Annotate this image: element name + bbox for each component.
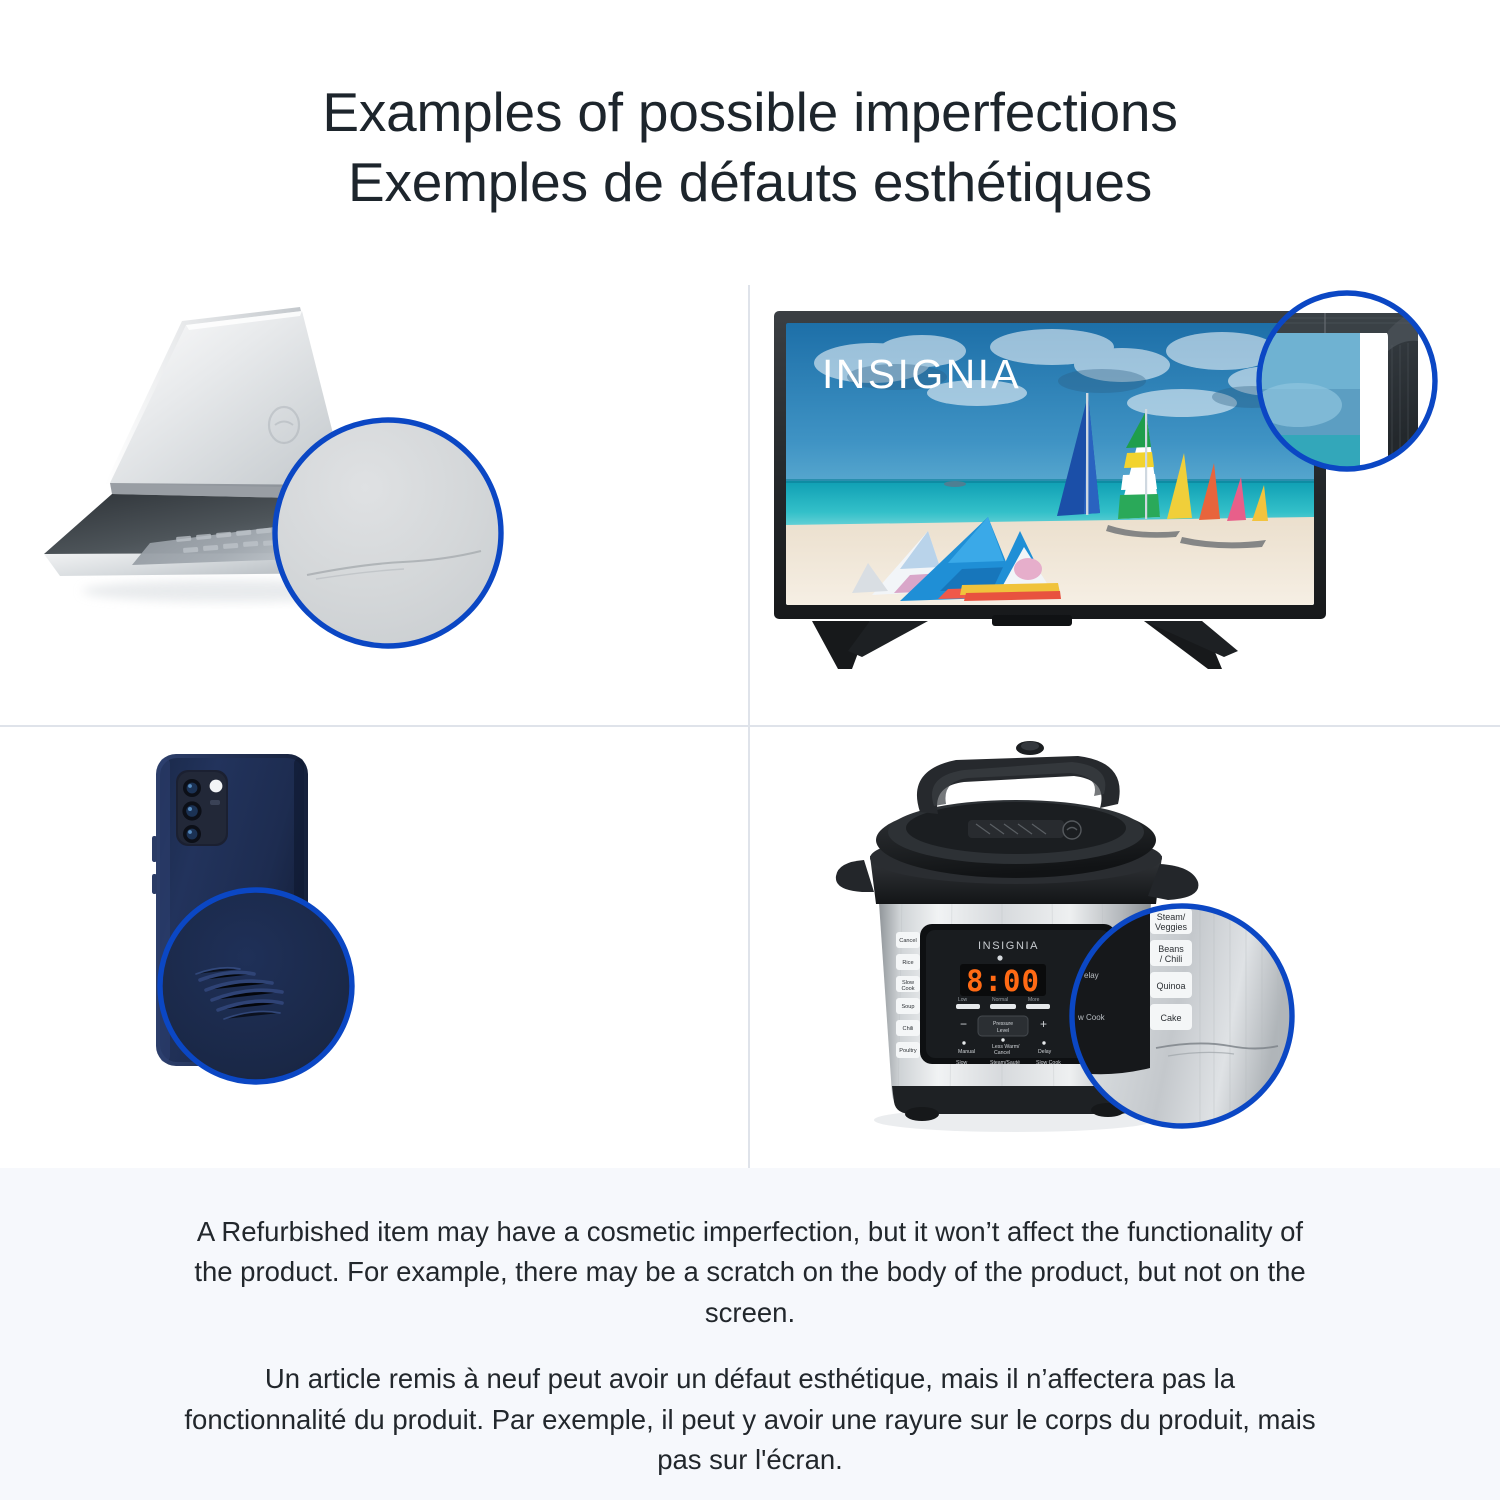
svg-text:Cake: Cake <box>1160 1013 1181 1023</box>
svg-text:Beans: Beans <box>1158 944 1184 954</box>
page-title-french: Exemples de défauts esthétiques <box>348 148 1152 218</box>
svg-text:Slow Cook: Slow Cook <box>1036 1060 1061 1066</box>
grid-divider-horizontal <box>0 725 1500 727</box>
svg-text:Level: Level <box>997 1028 1009 1034</box>
magnifier-laptop-scratch <box>275 420 501 646</box>
refurbished-imperfections-infographic: Examples of possible imperfections Exemp… <box>0 0 1500 1500</box>
svg-text:Manual: Manual <box>958 1049 975 1055</box>
svg-text:Veggies: Veggies <box>1155 922 1188 932</box>
svg-text:Cancel: Cancel <box>899 938 916 944</box>
magnifier-cooker-scratch: Steam/ Veggies Beans / Chili Quinoa Cake <box>1072 906 1292 1126</box>
svg-text:−: − <box>960 1017 967 1031</box>
television-stand <box>812 615 1238 669</box>
svg-text:Soup: Soup <box>901 1004 914 1010</box>
svg-text:Steam/: Steam/ <box>1157 912 1186 922</box>
svg-text:Chili: Chili <box>903 1026 914 1032</box>
svg-text:Cook: Cook <box>901 986 914 992</box>
explanation-text-french: Un article remis à neuf peut avoir un dé… <box>183 1359 1318 1480</box>
svg-text:+: + <box>1040 1017 1047 1031</box>
television-brand-text: INSIGNIA <box>822 351 1021 397</box>
cooker-brand-text: INSIGNIA <box>978 940 1039 952</box>
svg-text:/ Chili: / Chili <box>1160 954 1183 964</box>
explanation-panel: A Refurbished item may have a cosmetic i… <box>0 1168 1500 1500</box>
svg-text:More: More <box>1028 997 1040 1003</box>
svg-text:w Cook: w Cook <box>1077 1013 1106 1022</box>
svg-text:Normal: Normal <box>992 997 1008 1003</box>
phone-camera-flash <box>210 780 223 793</box>
smartphone-camera-module <box>176 770 228 846</box>
product-example-grid: INSIGNIA <box>0 285 1500 1168</box>
svg-text:Delay: Delay <box>1038 1049 1052 1055</box>
svg-text:Cancel: Cancel <box>994 1050 1010 1056</box>
television-screen-image: INSIGNIA <box>786 323 1316 605</box>
page-title-english: Examples of possible imperfections <box>322 78 1177 148</box>
phone-volume-button <box>152 836 157 862</box>
phone-power-button <box>152 874 157 894</box>
cooker-handle-left <box>836 860 874 892</box>
product-cell-laptop <box>0 285 748 725</box>
svg-text:Low: Low <box>958 997 968 1003</box>
svg-text:Quinoa: Quinoa <box>1156 981 1185 991</box>
svg-text:Steam/Sauté: Steam/Sauté <box>990 1060 1020 1066</box>
product-cell-smartphone <box>0 728 748 1168</box>
product-cell-pressure-cooker: INSIGNIA 8:00 Low Normal More <box>752 728 1500 1168</box>
svg-text:Poultry: Poultry <box>899 1048 917 1054</box>
svg-text:Pressure: Pressure <box>993 1021 1013 1027</box>
svg-text:elay: elay <box>1084 971 1099 980</box>
pressure-cooker-lid <box>876 741 1156 878</box>
page-header: Examples of possible imperfections Exemp… <box>0 0 1500 250</box>
explanation-text-english: A Refurbished item may have a cosmetic i… <box>183 1212 1318 1333</box>
svg-text:Rice: Rice <box>902 960 913 966</box>
product-cell-television: INSIGNIA <box>752 285 1500 725</box>
magnifier-smartphone-scuff <box>160 890 352 1082</box>
svg-text:Slow: Slow <box>956 1060 967 1066</box>
cooker-display-value: 8:00 <box>966 964 1040 998</box>
